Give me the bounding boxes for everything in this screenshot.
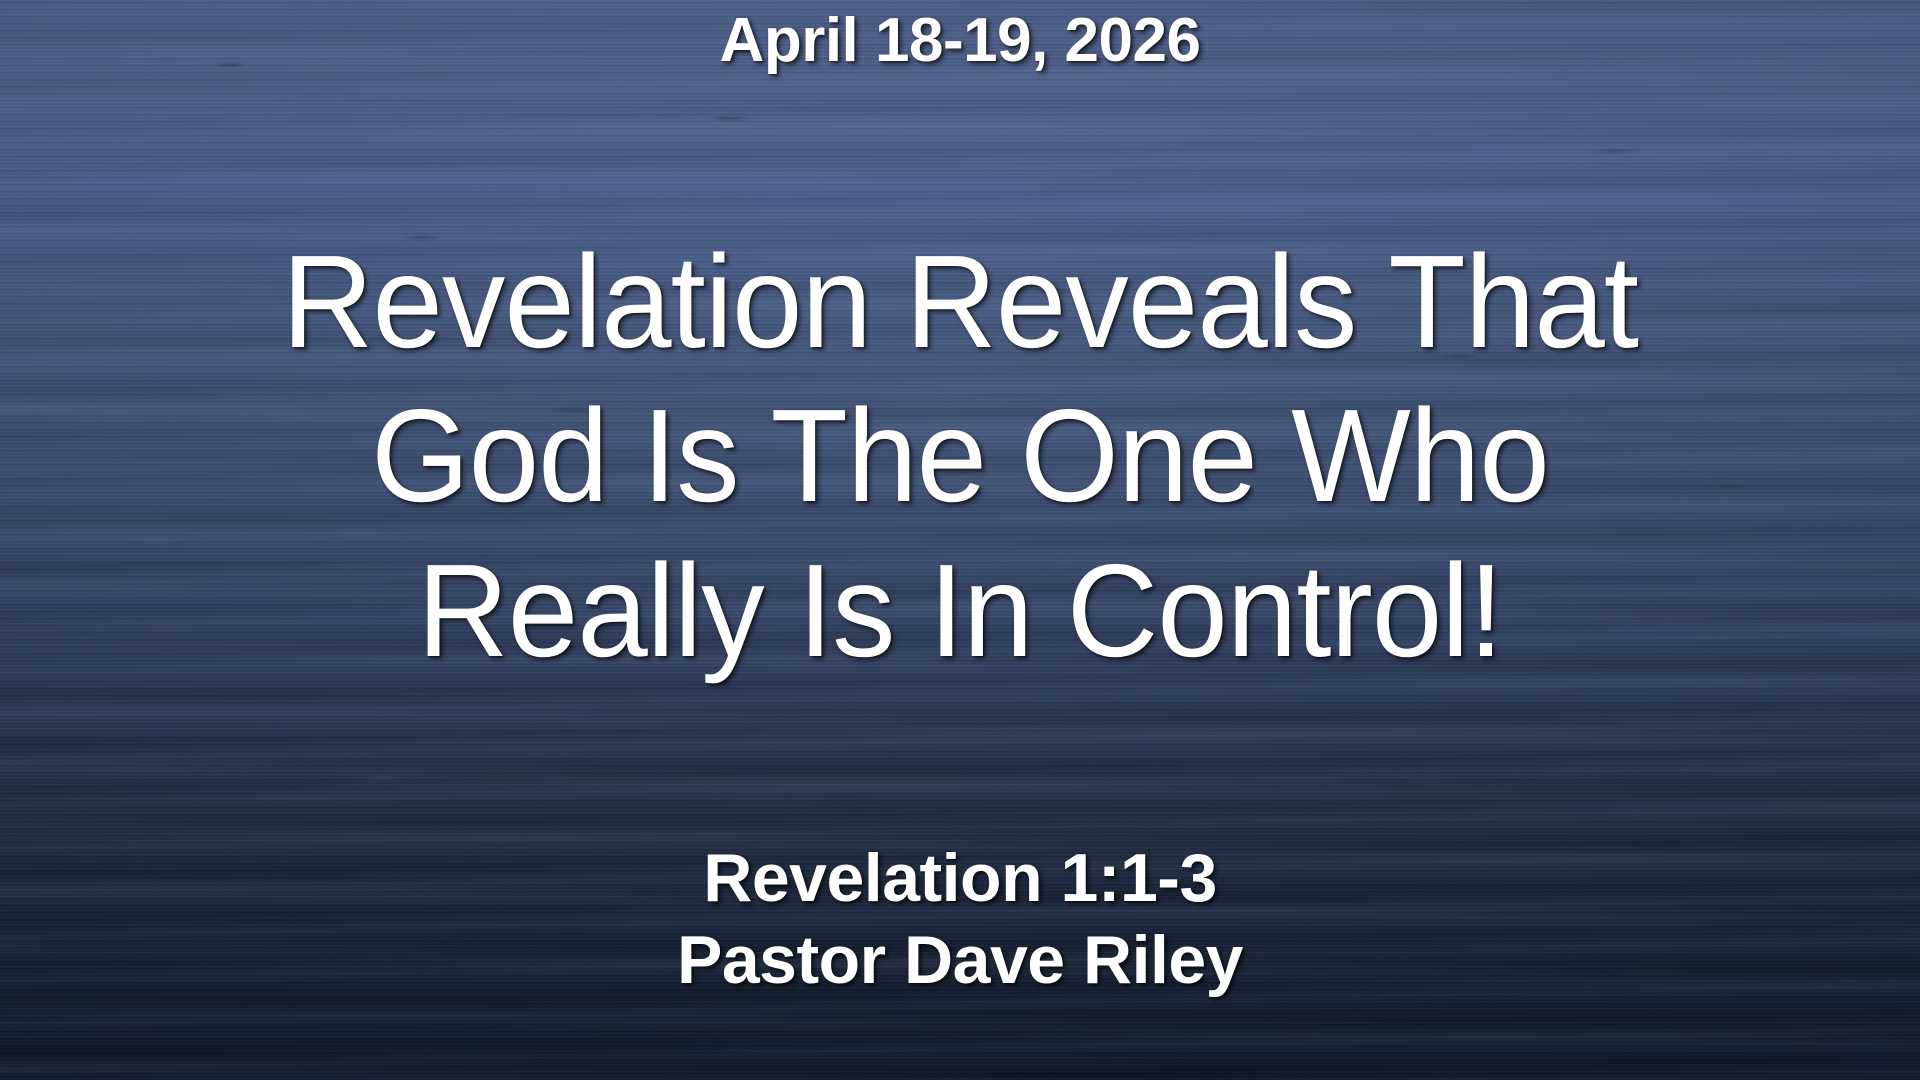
sermon-title-line-1: Revelation Reveals That bbox=[38, 225, 1881, 379]
sermon-title: Revelation Reveals That God Is The One W… bbox=[0, 225, 1920, 688]
service-date: April 18-19, 2026 bbox=[0, 8, 1920, 73]
sermon-title-slide: April 18-19, 2026 Revelation Reveals Tha… bbox=[0, 0, 1920, 1080]
speaker-name: Pastor Dave Riley bbox=[0, 920, 1920, 1002]
sermon-title-line-2: God Is The One Who bbox=[38, 379, 1881, 533]
sermon-title-line-3: Really Is In Control! bbox=[38, 534, 1881, 688]
sermon-footer: Revelation 1:1-3 Pastor Dave Riley bbox=[0, 838, 1920, 1001]
slide-text-stage: April 18-19, 2026 Revelation Reveals Tha… bbox=[0, 0, 1920, 1080]
scripture-reference: Revelation 1:1-3 bbox=[0, 838, 1920, 920]
